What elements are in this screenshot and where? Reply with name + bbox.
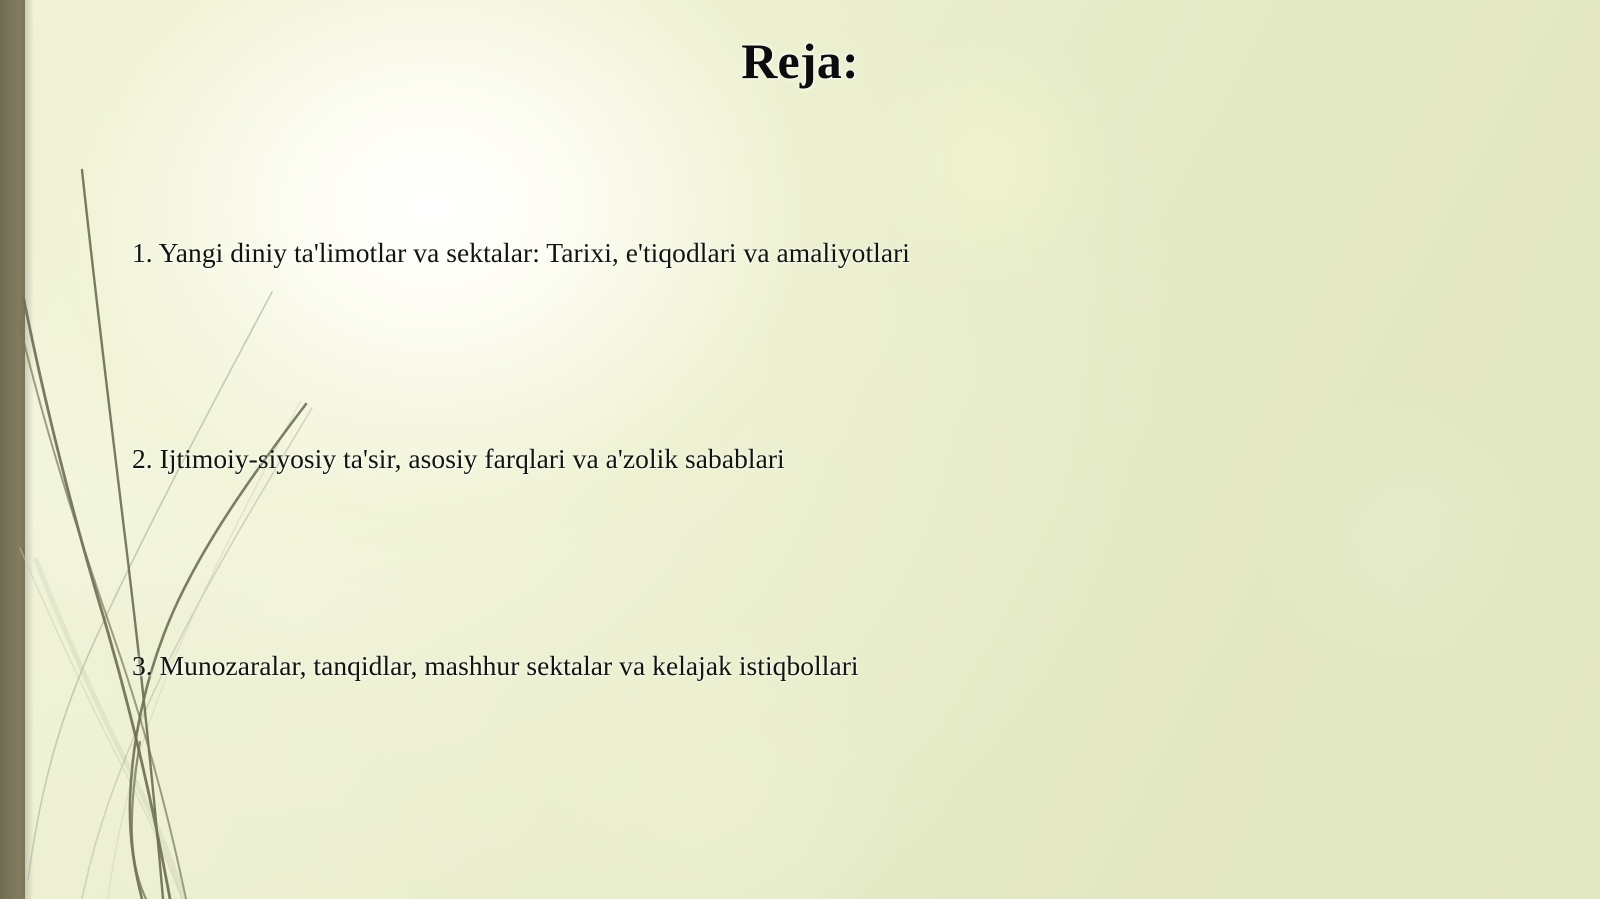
agenda-list: 1. Yangi diniy ta'limotlar va sektalar: … [132,236,1462,683]
presentation-slide: Reja: 1. Yangi diniy ta'limotlar va sekt… [0,0,1600,899]
left-edge-accent-bar [0,0,25,899]
page-title: Reja: [0,32,1600,90]
agenda-item-3: 3. Munozaralar, tanqidlar, mashhur sekta… [132,649,1462,683]
agenda-item-1: 1. Yangi diniy ta'limotlar va sektalar: … [132,236,1462,270]
agenda-item-2: 2. Ijtimoiy-siyosiy ta'sir, asosiy farql… [132,442,1462,476]
